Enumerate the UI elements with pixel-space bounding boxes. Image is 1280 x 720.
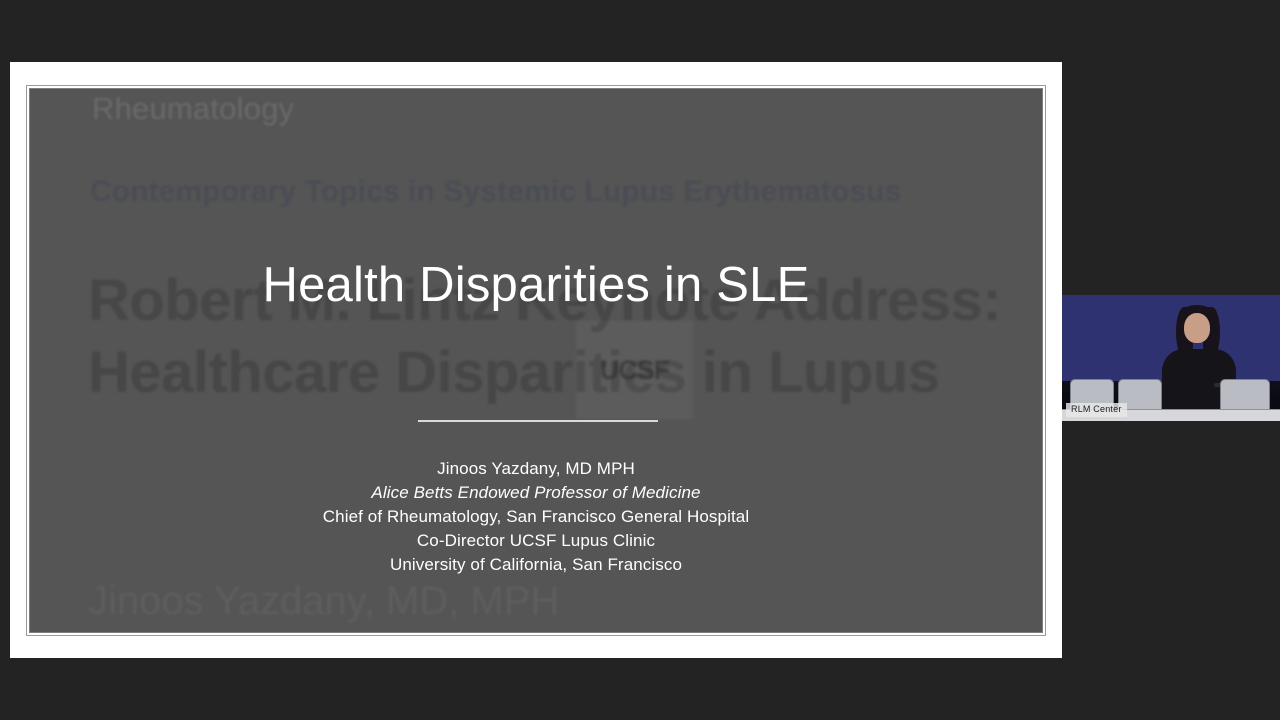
byline-line-professorship: Alice Betts Endowed Professor of Medicin… bbox=[30, 481, 1042, 505]
byline-line-role: Chief of Rheumatology, San Francisco Gen… bbox=[30, 505, 1042, 529]
title-divider-rule bbox=[418, 420, 658, 422]
slide-frame: Rheumatology Contemporary Topics in Syst… bbox=[26, 85, 1046, 636]
byline-line-name: Jinoos Yazdany, MD MPH bbox=[30, 457, 1042, 481]
venue-label: RLM Center bbox=[1066, 403, 1127, 417]
speaker-byline: Jinoos Yazdany, MD MPH Alice Betts Endow… bbox=[30, 457, 1042, 577]
speaker-video-feed[interactable]: RLM Center bbox=[1062, 295, 1280, 421]
current-slide-layer: Health Disparities in SLE Jinoos Yazdany… bbox=[30, 89, 1042, 632]
presentation-viewer: Rheumatology Contemporary Topics in Syst… bbox=[0, 0, 1280, 720]
byline-line-institution: University of California, San Francisco bbox=[30, 553, 1042, 577]
speaker-head bbox=[1184, 313, 1210, 343]
slide-title: Health Disparities in SLE bbox=[30, 257, 1042, 313]
byline-line-clinic: Co-Director UCSF Lupus Clinic bbox=[30, 529, 1042, 553]
dais-chair bbox=[1220, 379, 1270, 411]
slide-canvas[interactable]: Rheumatology Contemporary Topics in Syst… bbox=[29, 88, 1043, 633]
